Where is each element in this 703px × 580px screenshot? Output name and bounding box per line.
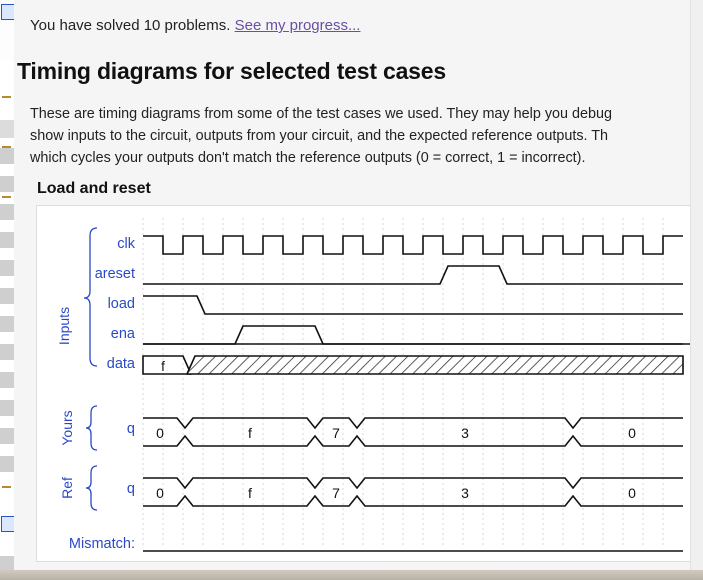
bracket-inputs: [84, 228, 97, 366]
see-my-progress-link[interactable]: See my progress...: [235, 17, 361, 34]
left-sidebar-strip: [0, 0, 15, 580]
axis-tick-7: 80: [420, 558, 431, 559]
yours-q-value-0: 0: [156, 425, 164, 441]
bracket-ref: [86, 466, 97, 510]
ref-q-value-3: 3: [461, 485, 469, 501]
page-content: You have solved 10 problems. See my prog…: [14, 0, 703, 580]
sidebar-marker: [2, 196, 11, 198]
axis-tick-5: 60: [340, 558, 351, 559]
page-title: Timing diagrams for selected test cases: [17, 58, 446, 85]
scroll-track-segment: [0, 148, 14, 164]
data-bus-value-0: f: [161, 359, 165, 374]
signal-label-data: data: [107, 356, 136, 372]
signal-label-areset: areset: [95, 266, 135, 282]
scroll-track-segment: [0, 400, 14, 416]
intro-paragraph-line-1: These are timing diagrams from some of t…: [30, 103, 703, 125]
ref-q-value-0: 0: [156, 485, 164, 501]
sidebar-tab-icon[interactable]: [1, 4, 15, 20]
grid-lines: [143, 218, 663, 548]
scroll-track-segment: [0, 316, 14, 332]
yours-q-value-1: f: [248, 425, 252, 441]
scroll-track-segment: [0, 344, 14, 360]
waveform-data: f: [143, 356, 683, 374]
axis-tick-10: 110: [537, 558, 552, 559]
yours-q-value-2: 7: [332, 425, 340, 441]
scroll-track-segment: [0, 176, 14, 192]
section-title-load-and-reset: Load and reset: [37, 180, 151, 198]
axis-tick-3: 40: [260, 558, 271, 559]
signal-label-ref-q: q: [127, 481, 135, 497]
signal-label-clk: clk: [117, 236, 135, 252]
sidebar-marker: [2, 96, 11, 98]
scroll-track-segment: [0, 288, 14, 304]
intro-paragraph-line-2: show inputs to the circuit, outputs from…: [30, 125, 703, 147]
axis-tick-2: 30: [220, 558, 231, 559]
axis-tick-labels: 10 20 30 40 50 60 70 80 90 100 110 120 1…: [140, 558, 633, 559]
ref-q-value-1: f: [248, 485, 252, 501]
ref-q-value-4: 0: [628, 485, 636, 501]
scroll-track-segment: [0, 456, 14, 472]
yours-q-value-4: 0: [628, 425, 636, 441]
solved-count-text: You have solved 10 problems.: [30, 17, 230, 34]
axis-tick-6: 70: [380, 558, 391, 559]
group-label-inputs: Inputs: [56, 307, 72, 345]
axis-tick-9: 100: [497, 558, 513, 559]
axis-tick-1: 20: [180, 558, 191, 559]
timing-diagram-svg: Inputs Yours Ref clk areset load ena dat…: [37, 206, 690, 559]
axis-tick-11: 120: [577, 558, 593, 559]
page-right-gutter: [690, 0, 703, 580]
group-label-yours: Yours: [59, 410, 75, 445]
waveform-clk: [143, 236, 683, 254]
scroll-thumb[interactable]: [0, 120, 14, 138]
ref-q-value-2: 7: [332, 485, 340, 501]
sidebar-bottom-icon[interactable]: [1, 516, 15, 532]
signal-label-load: load: [108, 296, 135, 312]
waveform-areset: [143, 266, 683, 284]
axis-tick-8: 90: [460, 558, 471, 559]
yours-q-value-3: 3: [461, 425, 469, 441]
signal-label-mismatch: Mismatch:: [69, 536, 135, 552]
intro-paragraph-line-3: which cycles your outputs don't match th…: [30, 147, 703, 169]
scroll-track-segment: [0, 372, 14, 388]
axis-tick-0: 10: [140, 558, 151, 559]
waveform-ref-q: 0 f 7 3 0: [143, 478, 683, 506]
window-bottom-edge: [0, 570, 703, 580]
signal-label-yours-q: q: [127, 421, 135, 437]
waveform-ena-shape: [143, 326, 683, 344]
bracket-yours: [86, 406, 97, 450]
waveform-yours-q: 0 f 7 3 0: [143, 418, 683, 446]
scroll-track-segment: [0, 204, 14, 220]
group-label-ref: Ref: [59, 477, 75, 499]
data-bus-unknown: [187, 356, 683, 374]
solved-status-line: You have solved 10 problems. See my prog…: [30, 17, 360, 34]
waveform-load: [143, 296, 683, 314]
intro-paragraph: These are timing diagrams from some of t…: [30, 103, 703, 169]
signal-label-ena: ena: [111, 326, 136, 342]
data-bus-f-cell: [143, 356, 191, 374]
timing-diagram-panel[interactable]: Inputs Yours Ref clk areset load ena dat…: [36, 205, 693, 562]
screen-root: You have solved 10 problems. See my prog…: [0, 0, 703, 580]
sidebar-marker: [2, 486, 11, 488]
scroll-track-segment: [0, 260, 14, 276]
scroll-track-segment: [0, 232, 14, 248]
axis-tick-4: 50: [300, 558, 311, 559]
scroll-track-segment: [0, 428, 14, 444]
signal-labels: clk areset load ena data q q Mismatch:: [69, 236, 136, 552]
axis-tick-12: 130: [617, 558, 633, 559]
